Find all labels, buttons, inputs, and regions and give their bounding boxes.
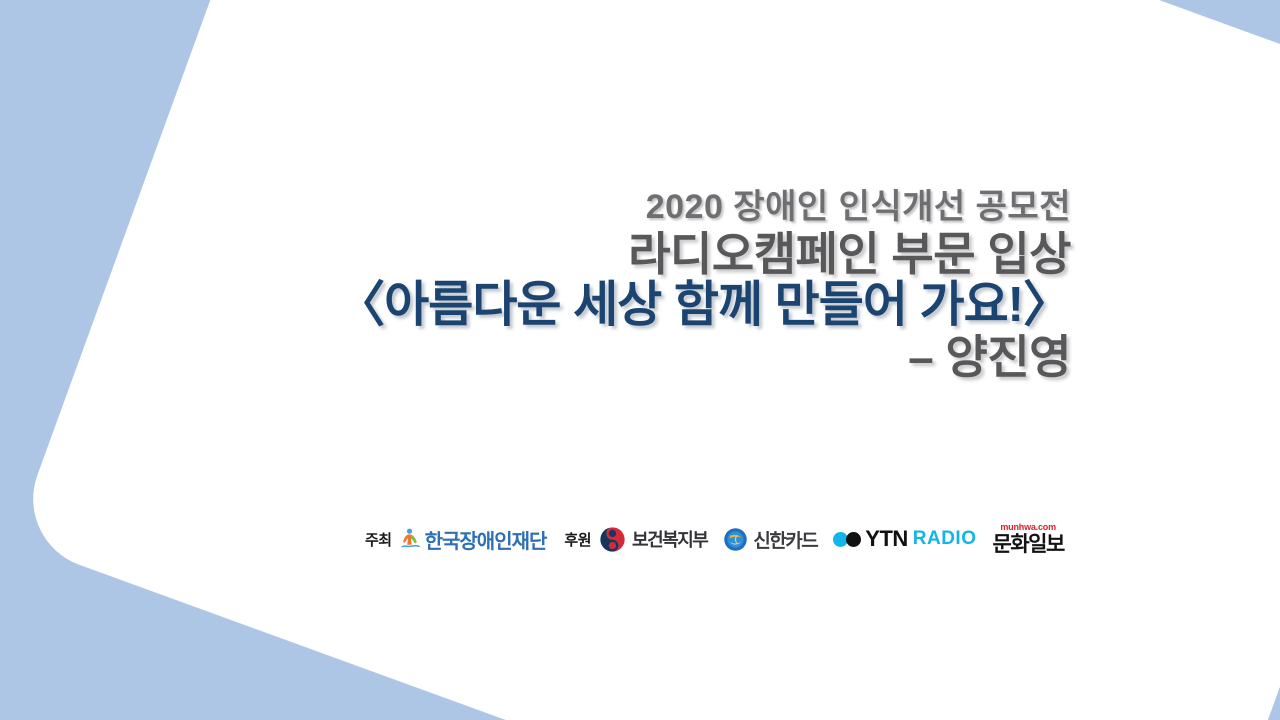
headline-line-author: – 양진영: [0, 334, 1071, 380]
sponsor-role-support-label: 후원: [564, 529, 591, 550]
slide-canvas: 2020 장애인 인식개선 공모전 라디오캠페인 부문 입상 〈아름다운 세상 …: [0, 0, 1280, 720]
logo-munhwa-ilbo: munhwa.com 문화일보: [993, 523, 1064, 555]
sponsor-role-host-label: 주최: [365, 529, 392, 550]
logo-ytn-label: YTN: [865, 526, 908, 552]
logo-kfdp: 한국장애인재단: [400, 525, 547, 554]
taegeuk-icon: [599, 526, 626, 553]
headline-line-award: 라디오캠페인 부문 입상: [0, 231, 1071, 277]
headline-line-title: 〈아름다운 세상 함께 만들어 가요!〉: [0, 281, 1071, 330]
sponsor-strip: 주최 한국장애인재단 후원: [365, 518, 1064, 560]
sponsor-group-support: 후원 보건복지부: [564, 523, 1063, 555]
logo-mohw-label: 보건복지부: [632, 526, 707, 552]
logo-mohw: 보건복지부: [599, 526, 707, 553]
logo-shinhan-card-label: 신한카드: [753, 526, 817, 553]
logo-shinhan-card: 신한카드: [723, 526, 817, 553]
logo-ytn-radio: YTN RADIO: [833, 526, 976, 552]
sponsor-group-host: 주최 한국장애인재단: [365, 525, 546, 554]
shinhan-globe-icon: [723, 527, 748, 552]
logo-munhwa-domain: munhwa.com: [1000, 523, 1056, 532]
headline-line-contest: 2020 장애인 인식개선 공모전: [0, 190, 1071, 224]
headline-block: 2020 장애인 인식개선 공모전 라디오캠페인 부문 입상 〈아름다운 세상 …: [0, 190, 1071, 380]
logo-munhwa-label: 문화일보: [993, 534, 1064, 555]
logo-kfdp-label: 한국장애인재단: [425, 525, 547, 554]
kfdp-person-icon: [400, 527, 422, 551]
logo-radio-label: RADIO: [913, 528, 977, 550]
ytn-dots-icon: [833, 532, 861, 547]
